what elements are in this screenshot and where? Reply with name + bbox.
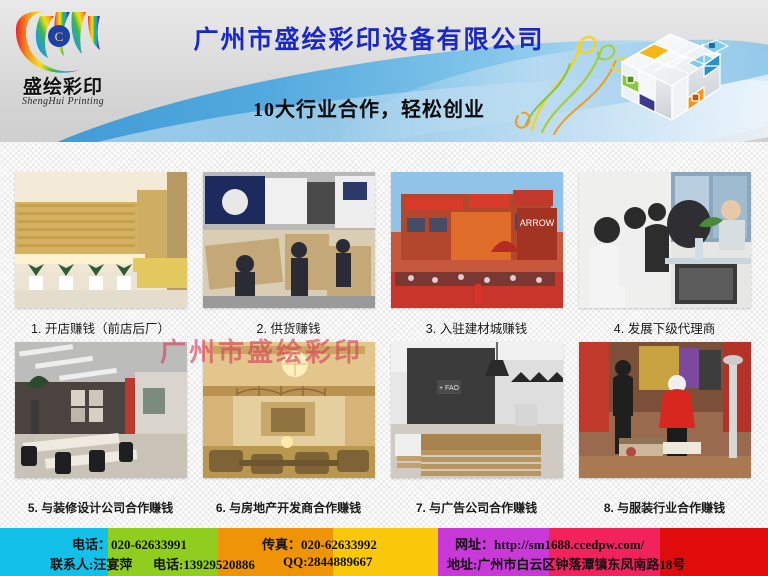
gallery-photo: ARROW [391,172,563,308]
slide-canvas: C 盛绘彩印 ShengHui Printing 广州市盛绘彩印设备有限公司 1… [0,0,768,576]
photo-caption: 7. 与广告公司合作赚钱 [384,499,569,516]
company-subtitle: 10大行业合作，轻松创业 [0,93,768,122]
svg-text:ARROW: ARROW [520,218,555,228]
footer-contact-item-2[interactable]: 网址：http://sm1688.ccedpw.com/ [455,534,644,553]
footer-contact-item-0: 电话：020-62633991 [72,534,187,553]
footer-contact-item-2: QQ:2844889667 [283,554,373,570]
caption-row-2: 5. 与装修设计公司合作赚钱 6. 与房地产开发商合作赚钱 7. 与广告公司合作… [0,499,768,519]
footer-contact-item-1: 传真：020-62633992 [262,534,377,553]
footer-text-layer: 电话：020-62633991传真：020-62633992网址：http://… [0,528,768,576]
gallery-area: ARROW [0,142,768,528]
footer-contact-item-1: 电话:13929520886 [153,554,255,573]
photo-caption: 3. 入驻建材城赚钱 [384,318,569,337]
gallery-photo [15,342,187,478]
photo-caption: 4. 发展下级代理商 [572,318,757,337]
gallery-photo [203,342,375,478]
photo-caption: 2. 供货赚钱 [196,318,381,337]
gallery-photo: + FAO [391,342,563,478]
photo-row-2: + FAO [0,342,768,479]
footer-contact-bar: 电话：020-62633991传真：020-62633992网址：http://… [0,528,768,576]
footer-contact-item-0: 联系人:汪宴萍 [50,554,132,573]
header-banner: C 盛绘彩印 ShengHui Printing 广州市盛绘彩印设备有限公司 1… [0,0,768,142]
gallery-photo [15,172,187,308]
gallery-photo [203,172,375,308]
caption-row-1: 1. 开店赚钱（前店后厂） 2. 供货赚钱 3. 入驻建材城赚钱 4. 发展下级… [0,318,768,338]
photo-caption: 1. 开店赚钱（前店后厂） [8,318,193,337]
photo-caption: 8. 与服装行业合作赚钱 [572,499,757,516]
photo-row-1: ARROW [0,172,768,309]
svg-text:+ FAO: + FAO [439,385,460,392]
footer-contact-item-3: 地址:广州市白云区钟落潭镇东凤南路18号 [447,554,685,573]
gallery-photo [579,172,751,308]
company-title: 广州市盛绘彩印设备有限公司 [0,20,768,56]
photo-caption: 5. 与装修设计公司合作赚钱 [8,499,193,516]
gallery-photo [579,342,751,478]
photo-caption: 6. 与房地产开发商合作赚钱 [196,499,381,516]
